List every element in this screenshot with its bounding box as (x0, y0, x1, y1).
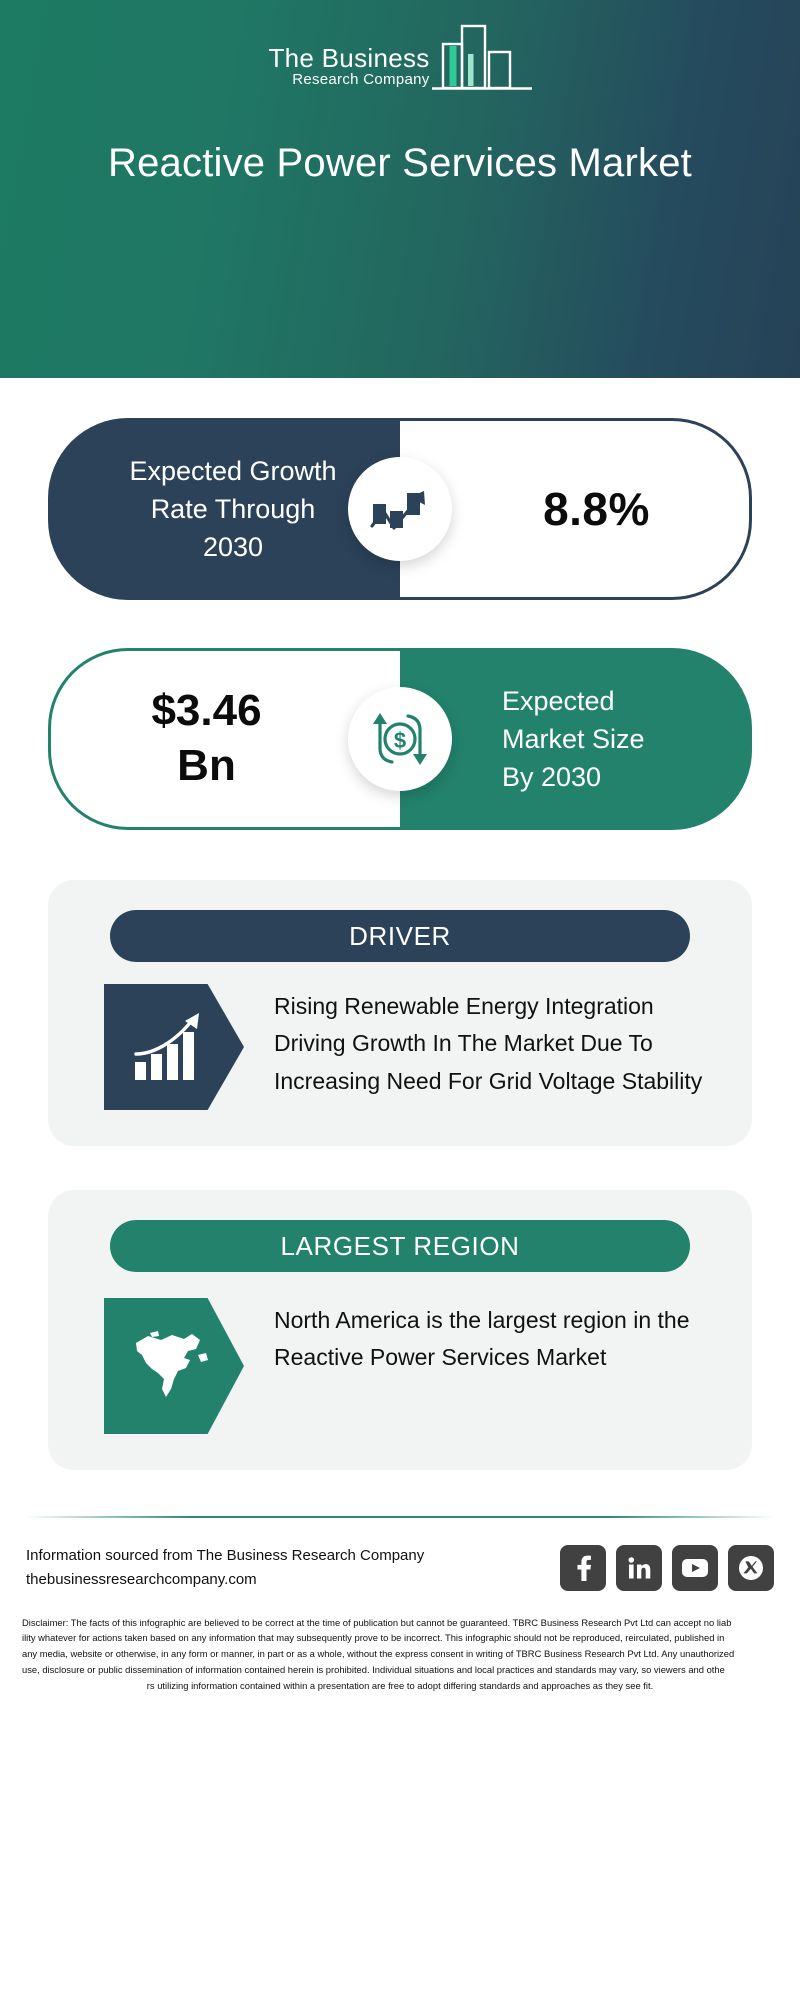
footer-source-line1: Information sourced from The Business Re… (26, 1544, 424, 1568)
disclaimer-line: ility whatever for actions taken based o… (22, 1630, 778, 1646)
stat-card-growth-value-side: 8.8% (400, 418, 752, 600)
driver-body-row: Rising Renewable Energy Integration Driv… (48, 962, 752, 1110)
youtube-icon[interactable] (672, 1545, 718, 1591)
linkedin-icon[interactable] (616, 1545, 662, 1591)
largest-region-heading: LARGEST REGION (110, 1220, 690, 1272)
largest-region-text: North America is the largest region in t… (274, 1298, 712, 1377)
linkedin-glyph (626, 1555, 652, 1581)
disclaimer-line: use, disclosure or public dissemination … (22, 1662, 778, 1678)
largest-region-body-row: North America is the largest region in t… (48, 1272, 752, 1434)
disclaimer-line: any media, website or otherwise, in any … (22, 1646, 778, 1662)
footer-source-line2[interactable]: thebusinessresearchcompany.com (26, 1568, 424, 1592)
brand-logo-text: The Business Research Company (268, 45, 429, 96)
driver-panel: DRIVER Rising Renewable Energy Integrati… (48, 880, 752, 1146)
page-title: Reactive Power Services Market (90, 138, 710, 188)
svg-text:$: $ (394, 728, 406, 753)
stat-cards: Expected Growth Rate Through 2030 8.8% $… (0, 418, 800, 830)
stat-card-growth-value: 8.8% (499, 482, 650, 536)
facebook-glyph (571, 1554, 595, 1582)
footer-source: Information sourced from The Business Re… (26, 1544, 424, 1593)
driver-icon-box (104, 984, 244, 1110)
stat-card-market-value: $3.46 Bn (136, 684, 316, 793)
brand-logo-line2: Research Company (268, 71, 429, 90)
bar-chart-logo-icon (432, 22, 532, 96)
brand-logo[interactable]: The Business Research Company (268, 22, 531, 96)
north-america-map-icon (128, 1327, 220, 1405)
stat-card-market-label-side: Expected Market Size By 2030 (400, 648, 752, 830)
stat-card-market-size: $3.46 Bn Expected Market Size By 2030 $ (48, 648, 752, 830)
driver-text: Rising Renewable Energy Integration Driv… (274, 984, 712, 1100)
footer-divider-wrap (0, 1470, 800, 1518)
youtube-glyph (681, 1557, 709, 1579)
growth-chart-arrow-icon (369, 480, 431, 538)
stat-card-growth-rate: Expected Growth Rate Through 2030 8.8% (48, 418, 752, 600)
dollar-circulation-icon: $ (368, 708, 432, 770)
stat-card-market-label: Expected Market Size By 2030 (476, 682, 676, 797)
disclaimer-line: rs utilizing information contained withi… (22, 1678, 778, 1694)
disclaimer: Disclaimer: The facts of this infographi… (0, 1593, 800, 1694)
driver-heading: DRIVER (110, 910, 690, 962)
footer: Information sourced from The Business Re… (0, 1518, 800, 1593)
brand-logo-line1: The Business (268, 45, 429, 72)
largest-region-icon-box (104, 1298, 244, 1434)
disclaimer-line: Disclaimer: The facts of this infographi… (22, 1615, 778, 1631)
x-glyph (738, 1555, 764, 1581)
bar-chart-growth-icon (131, 1010, 217, 1084)
stat-card-market-icon-badge: $ (348, 687, 452, 791)
social-links (560, 1545, 774, 1591)
stat-card-growth-label: Expected Growth Rate Through 2030 (109, 452, 339, 567)
largest-region-panel: LARGEST REGION North America is the larg… (48, 1190, 752, 1470)
x-twitter-icon[interactable] (728, 1545, 774, 1591)
header-banner: The Business Research Company Reactive P… (0, 0, 800, 378)
facebook-icon[interactable] (560, 1545, 606, 1591)
stat-card-growth-icon-badge (348, 457, 452, 561)
